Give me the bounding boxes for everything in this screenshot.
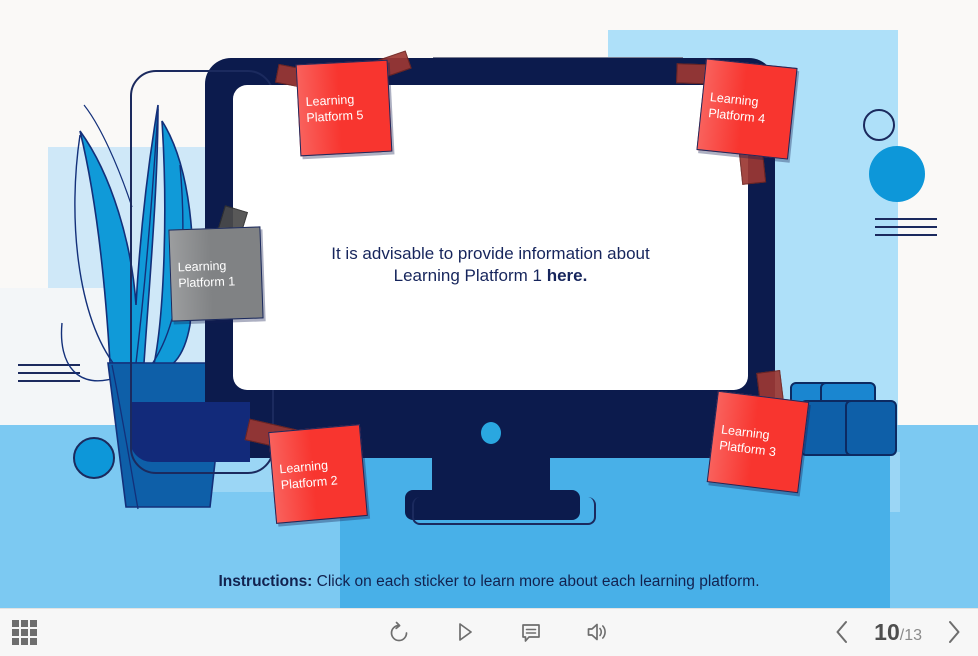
- previous-slide-button[interactable]: [832, 618, 852, 646]
- sticker-learning-platform-2[interactable]: Learning Platform 2: [268, 424, 368, 524]
- replay-button[interactable]: [385, 617, 413, 647]
- instructions-body: Click on each sticker to learn more abou…: [312, 573, 759, 590]
- monitor-power-indicator: [481, 422, 501, 444]
- decor-circle-filled: [869, 146, 925, 202]
- chevron-left-icon: [832, 618, 852, 646]
- decor-circle-outline: [863, 109, 895, 141]
- decor-line-right-3: [875, 234, 937, 236]
- instructions-text: Instructions: Click on each sticker to l…: [0, 573, 978, 591]
- screen-message-emphasis: here.: [547, 266, 588, 285]
- slide-canvas: It is advisable to provide information a…: [0, 0, 978, 656]
- decor-line-right-1: [875, 218, 937, 220]
- screen-message-line2: Learning Platform 1: [394, 266, 547, 285]
- sticker-learning-platform-5[interactable]: Learning Platform 5: [296, 60, 393, 157]
- screen-message: It is advisable to provide information a…: [253, 243, 728, 287]
- play-icon: [455, 620, 475, 644]
- next-slide-button[interactable]: [944, 618, 964, 646]
- sticker-label-line1: Learning: [177, 259, 226, 275]
- playback-controls: [385, 617, 611, 647]
- volume-button[interactable]: [583, 617, 611, 647]
- sticker-label-line1: Learning: [279, 458, 329, 476]
- decor-line-right-2: [875, 226, 937, 228]
- screen-message-line1: It is advisable to provide information a…: [331, 244, 649, 263]
- total-page-count: /13: [900, 627, 922, 645]
- sticker-label-line1: Learning: [305, 92, 354, 109]
- sticker-learning-platform-1[interactable]: Learning Platform 1: [168, 226, 263, 321]
- volume-icon: [585, 620, 609, 644]
- sticker-label: Learning Platform 2: [279, 455, 359, 494]
- notes-icon: [520, 620, 542, 644]
- player-toolbar: 10 /13: [0, 608, 978, 656]
- sticker-label-line2: Platform 1: [178, 274, 235, 290]
- chevron-right-icon: [944, 618, 964, 646]
- instructions-label: Instructions:: [218, 573, 312, 590]
- monitor-stand-outline: [412, 497, 596, 525]
- replay-icon: [388, 620, 410, 644]
- notes-button[interactable]: [517, 617, 545, 647]
- navigation-controls: 10 /13: [832, 618, 964, 646]
- page-indicator: 10 /13: [874, 619, 922, 646]
- grid-menu-icon: [12, 620, 37, 645]
- sticker-learning-platform-4[interactable]: Learning Platform 4: [696, 58, 797, 159]
- sticker-label-line2: Platform 5: [306, 108, 364, 125]
- menu-button[interactable]: [12, 620, 37, 645]
- sticker-label: Learning Platform 5: [305, 90, 385, 126]
- play-button[interactable]: [451, 617, 479, 647]
- sticker-label: Learning Platform 1: [177, 257, 256, 292]
- book-stack-bottom-second: [845, 400, 897, 456]
- sticker-learning-platform-3[interactable]: Learning Platform 3: [707, 391, 810, 494]
- current-page-number: 10: [874, 619, 900, 646]
